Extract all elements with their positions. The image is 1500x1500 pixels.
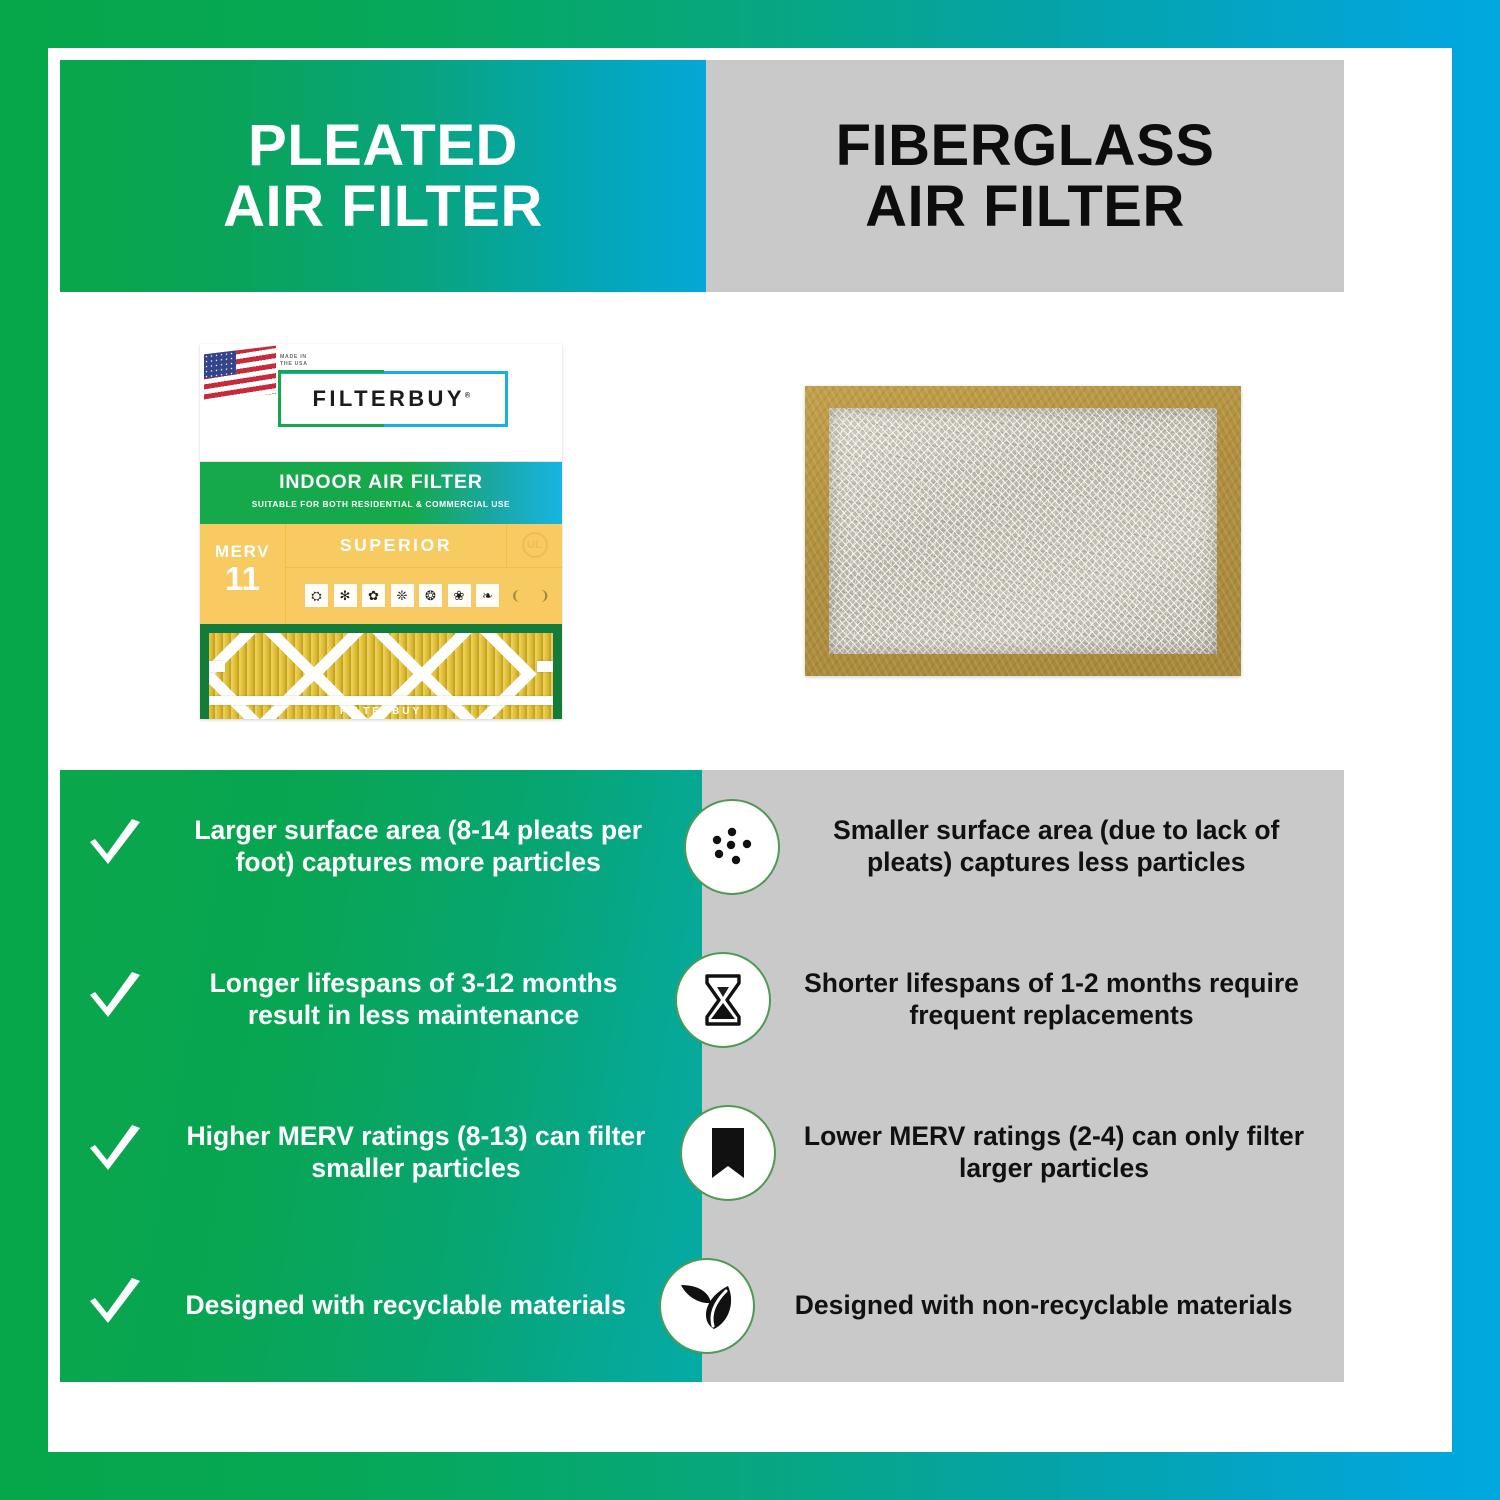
dust-icon: ⛭ xyxy=(304,583,329,608)
feature-row: Longer lifespans of 3-12 months result i… xyxy=(60,923,1344,1076)
pleat-footer-brand: FILTERBUY xyxy=(209,706,553,717)
fiberglass-media xyxy=(829,408,1217,654)
check-cell xyxy=(60,1122,170,1184)
leaf-icon xyxy=(678,1279,736,1333)
checkmark-icon xyxy=(84,1275,146,1337)
particles-icon xyxy=(705,820,759,874)
checkmark-icon xyxy=(84,1122,146,1184)
feature-icon-circle xyxy=(680,1105,776,1201)
usa-flag-icon xyxy=(204,345,276,402)
band-subtitle: SUITABLE FOR BOTH RESIDENTIAL & COMMERCI… xyxy=(200,494,562,509)
merv-section: MERV 11 SUPERIOR UL ⛭ ✻ ✿ xyxy=(200,524,562,624)
support-wire-left-stub xyxy=(209,661,225,672)
capture-icon-strip: ⛭ ✻ ✿ ❊ ❂ ❀ ❧ ❨ ❩ xyxy=(286,568,562,624)
feature-left-text: Higher MERV ratings (8-13) can filter sm… xyxy=(170,1121,728,1185)
bacteria-icon: ❊ xyxy=(390,583,415,608)
feature-icon-circle xyxy=(684,799,780,895)
fiberglass-product-cell xyxy=(702,292,1344,770)
feature-right-text: Shorter lifespans of 1-2 months require … xyxy=(723,968,1344,1032)
indoor-air-filter-band: INDOOR AIR FILTER SUITABLE FOR BOTH RESI… xyxy=(200,462,562,524)
outer-gradient-frame: PLEATED AIR FILTER FIBERGLASS AIR FILTER… xyxy=(0,0,1500,1500)
feature-right-text: Smaller surface area (due to lack of ple… xyxy=(732,815,1344,879)
filterbuy-logo: FILTERBUY® xyxy=(278,371,508,427)
feature-row: Designed with recyclable materials Desig… xyxy=(60,1229,1344,1382)
virus-icon: ❂ xyxy=(418,583,443,608)
made-in-usa-text: MADE IN THE USA xyxy=(280,354,308,370)
feature-row: Larger surface area (8-14 pleats per foo… xyxy=(60,770,1344,923)
hourglass-icon xyxy=(698,972,748,1028)
pleated-product-cell: MADE IN THE USA FILTERBUY® INDOOR AIR FI… xyxy=(60,292,702,770)
header-fiberglass-line2: AIR FILTER xyxy=(865,174,1185,239)
made-in-line2: THE USA xyxy=(280,361,308,369)
fiberglass-filter-product-image xyxy=(805,386,1241,676)
gas-icon: ❩ xyxy=(532,583,557,608)
checkmark-icon xyxy=(84,969,146,1031)
bookmark-icon xyxy=(706,1125,750,1181)
pollen-icon: ✻ xyxy=(333,583,358,608)
odor-icon: ❨ xyxy=(504,583,529,608)
merv-details: SUPERIOR UL ⛭ ✻ ✿ ❊ ❂ ❀ ❧ xyxy=(286,524,562,624)
feature-row: Higher MERV ratings (8-13) can filter sm… xyxy=(60,1076,1344,1229)
feature-left-text: Designed with recyclable materials xyxy=(170,1290,707,1322)
check-cell xyxy=(60,816,170,878)
header-pleated-line1: PLEATED xyxy=(248,113,518,178)
made-in-line1: MADE IN xyxy=(280,354,308,362)
header-row: PLEATED AIR FILTER FIBERGLASS AIR FILTER xyxy=(60,60,1344,292)
check-cell xyxy=(60,969,170,1031)
band-title: INDOOR AIR FILTER xyxy=(200,462,562,494)
feature-left-text: Longer lifespans of 3-12 months result i… xyxy=(170,968,723,1032)
check-cell xyxy=(60,1275,170,1337)
pleated-media-area: FILTERBUY xyxy=(200,624,562,719)
merv-value: 11 xyxy=(200,562,285,597)
header-fiberglass: FIBERGLASS AIR FILTER xyxy=(706,60,1344,292)
pleated-media: FILTERBUY xyxy=(209,633,553,719)
tier-row: SUPERIOR UL xyxy=(286,524,562,568)
feature-icon-circle xyxy=(659,1258,755,1354)
pleated-filter-product-image: MADE IN THE USA FILTERBUY® INDOOR AIR FI… xyxy=(200,344,562,719)
feature-right-text: Designed with non-recyclable materials xyxy=(707,1290,1344,1322)
header-pleated: PLEATED AIR FILTER xyxy=(60,60,706,292)
product-image-row: MADE IN THE USA FILTERBUY® INDOOR AIR FI… xyxy=(60,292,1344,770)
feature-right-text: Lower MERV ratings (2-4) can only filter… xyxy=(728,1121,1344,1185)
tier-label: SUPERIOR xyxy=(286,535,506,556)
filterbuy-logo-text: FILTERBUY® xyxy=(313,386,474,412)
feature-icon-circle xyxy=(675,952,771,1048)
checkmark-icon xyxy=(84,816,146,878)
feature-comparison-section: Larger surface area (8-14 pleats per foo… xyxy=(60,770,1344,1382)
header-pleated-line2: AIR FILTER xyxy=(223,174,543,239)
header-fiberglass-line1: FIBERGLASS xyxy=(836,113,1215,178)
support-wire-bottom xyxy=(209,696,553,705)
ul-badge-text: UL xyxy=(522,532,548,558)
box-top-section: MADE IN THE USA FILTERBUY® xyxy=(200,344,562,462)
merv-badge: MERV 11 xyxy=(200,524,286,624)
smoke-icon: ❧ xyxy=(475,583,500,608)
mold-icon: ✿ xyxy=(361,583,386,608)
feature-rows: Larger surface area (8-14 pleats per foo… xyxy=(60,770,1344,1382)
pet-dander-icon: ❀ xyxy=(447,583,472,608)
merv-label: MERV xyxy=(200,542,285,562)
support-wire-right-stub xyxy=(537,661,553,672)
feature-left-text: Larger surface area (8-14 pleats per foo… xyxy=(170,815,732,879)
ul-listed-badge: UL xyxy=(506,524,562,567)
